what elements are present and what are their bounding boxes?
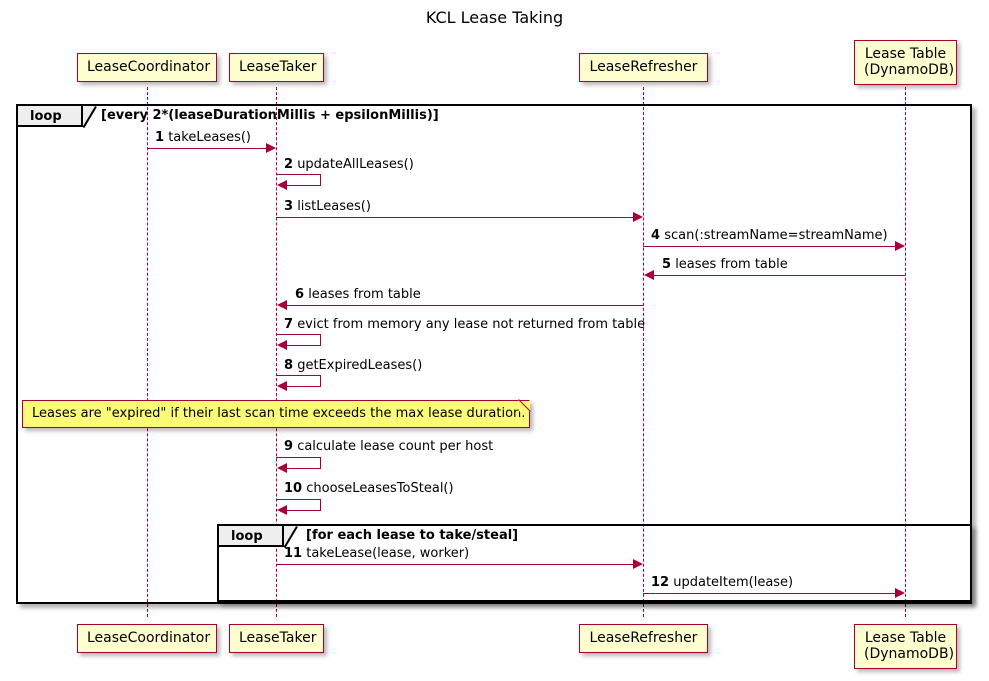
- message-8-line-top: [276, 375, 321, 376]
- message-5-arrowhead: [644, 270, 654, 280]
- participant-top-table[interactable]: Lease Table (DynamoDB): [854, 40, 957, 85]
- message-1-seq: 1: [155, 130, 164, 145]
- message-7-seq: 7: [284, 317, 293, 332]
- message-10-seq: 10: [284, 481, 302, 496]
- message-8-text: getExpiredLeases(): [297, 358, 422, 373]
- participant-bottom-taker[interactable]: LeaseTaker: [229, 624, 324, 653]
- message-10-label: 10 chooseLeasesToSteal(): [284, 481, 454, 496]
- message-9-text: calculate lease count per host: [297, 439, 493, 454]
- participant-label: LeaseTaker: [239, 630, 316, 646]
- message-10-line-top: [276, 499, 321, 500]
- message-7-label: 7 evict from memory any lease not return…: [284, 317, 645, 332]
- message-2-arrowhead: [277, 180, 287, 190]
- message-11-label: 11 takeLease(lease, worker): [284, 546, 469, 561]
- fragment-outer-loop-keyword: loop: [30, 109, 62, 124]
- message-5-line: [653, 275, 905, 276]
- message-1-line: [147, 148, 267, 149]
- message-4-line: [643, 246, 896, 247]
- message-6-label: 6 leases from table: [295, 287, 421, 302]
- message-3-text: listLeases(): [297, 199, 371, 214]
- message-9-line-top: [276, 457, 321, 458]
- message-3-label: 3 listLeases(): [284, 199, 371, 214]
- message-9-label: 9 calculate lease count per host: [284, 439, 493, 454]
- participant-label: LeaseRefresher: [590, 59, 698, 75]
- message-4-text: scan(:streamName=streamName): [664, 228, 887, 243]
- message-3-arrowhead: [633, 212, 643, 222]
- message-6-line: [286, 305, 643, 306]
- message-8-seq: 8: [284, 358, 293, 373]
- message-8-arrowhead: [277, 381, 287, 391]
- message-10-line-bottom: [287, 510, 321, 511]
- page-title: KCL Lease Taking: [0, 8, 989, 27]
- message-12-text: updateItem(lease): [673, 575, 793, 590]
- message-11-seq: 11: [284, 546, 302, 561]
- participant-label-line2: (DynamoDB): [864, 646, 947, 662]
- message-8-line-bottom: [287, 386, 321, 387]
- participant-label: LeaseRefresher: [590, 630, 698, 646]
- message-6-seq: 6: [295, 287, 304, 302]
- message-3-line: [276, 217, 634, 218]
- message-12-seq: 12: [651, 575, 669, 590]
- message-2-label: 2 updateAllLeases(): [284, 157, 414, 172]
- message-7-arrowhead: [277, 340, 287, 350]
- participant-top-refresher[interactable]: LeaseRefresher: [579, 53, 708, 82]
- participant-label-line2: (DynamoDB): [864, 62, 947, 78]
- message-11-text: takeLease(lease, worker): [306, 546, 469, 561]
- message-12-line: [643, 593, 896, 594]
- message-1-arrowhead: [266, 143, 276, 153]
- fragment-inner-loop-keyword: loop: [231, 529, 263, 544]
- participant-top-coordinator[interactable]: LeaseCoordinator: [77, 53, 217, 82]
- fragment-outer-loop-condition: [every 2*(leaseDurationMillis + epsilonM…: [101, 108, 439, 123]
- fragment-inner-loop-condition: [for each lease to take/steal]: [306, 528, 518, 543]
- message-4-arrowhead: [895, 241, 905, 251]
- message-6-arrowhead: [277, 300, 287, 310]
- message-5-seq: 5: [662, 257, 671, 272]
- message-1-text: takeLeases(): [168, 130, 251, 145]
- participant-label: Lease Table: [865, 630, 946, 646]
- participant-label: LeaseTaker: [239, 59, 316, 75]
- message-8-label: 8 getExpiredLeases(): [284, 358, 422, 373]
- message-7-line-bottom: [287, 345, 321, 346]
- message-9-line-bottom: [287, 468, 321, 469]
- message-9-arrowhead: [277, 463, 287, 473]
- message-12-arrowhead: [895, 588, 905, 598]
- message-1-label: 1 takeLeases(): [155, 130, 251, 145]
- message-4-label: 4 scan(:streamName=streamName): [651, 228, 888, 243]
- message-10-arrowhead: [277, 505, 287, 515]
- participant-top-taker[interactable]: LeaseTaker: [229, 53, 324, 82]
- message-10-text: chooseLeasesToSteal(): [306, 481, 453, 496]
- message-5-text: leases from table: [675, 257, 788, 272]
- message-2-seq: 2: [284, 157, 293, 172]
- fragment-outer-loop-tab-corner-stroke: [83, 106, 97, 128]
- participant-bottom-refresher[interactable]: LeaseRefresher: [579, 624, 708, 653]
- participant-bottom-table[interactable]: Lease Table (DynamoDB): [854, 624, 957, 669]
- sequence-diagram-canvas: KCL Lease Taking loop [every 2*(leaseDur…: [0, 0, 989, 681]
- participant-label: Lease Table: [865, 46, 946, 62]
- message-11-arrowhead: [633, 559, 643, 569]
- note-expired-leases: Leases are "expired" if their last scan …: [22, 400, 530, 428]
- message-3-seq: 3: [284, 199, 293, 214]
- fragment-inner-loop-tab-corner-stroke: [284, 526, 298, 548]
- message-2-text: updateAllLeases(): [297, 157, 414, 172]
- participant-bottom-coordinator[interactable]: LeaseCoordinator: [77, 624, 217, 653]
- message-7-line-top: [276, 334, 321, 335]
- message-5-label: 5 leases from table: [662, 257, 788, 272]
- message-4-seq: 4: [651, 228, 660, 243]
- participant-label: LeaseCoordinator: [87, 59, 210, 75]
- participant-label: LeaseCoordinator: [87, 630, 210, 646]
- message-6-text: leases from table: [308, 287, 421, 302]
- message-7-text: evict from memory any lease not returned…: [297, 317, 645, 332]
- message-2-line-top: [276, 174, 321, 175]
- message-12-label: 12 updateItem(lease): [651, 575, 793, 590]
- note-text: Leases are "expired" if their last scan …: [32, 406, 525, 421]
- message-9-seq: 9: [284, 439, 293, 454]
- message-11-line: [276, 564, 634, 565]
- message-2-line-bottom: [287, 185, 321, 186]
- note-fold-line: [518, 399, 531, 412]
